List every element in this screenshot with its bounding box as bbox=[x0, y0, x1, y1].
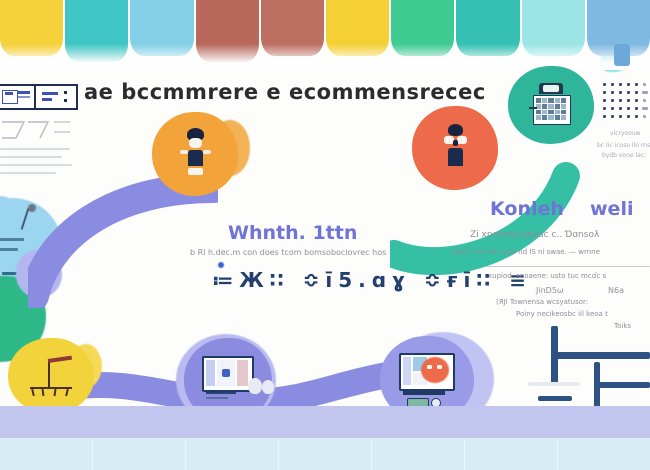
main-headline: ae bccmmrere e ecommensrecec bbox=[84, 80, 486, 104]
footer-cell[interactable] bbox=[372, 438, 465, 470]
matrix-caption-line-1: vicryoouw bbox=[610, 130, 641, 137]
footer-cell[interactable] bbox=[465, 438, 558, 470]
sketch-chevrons bbox=[0, 118, 72, 142]
center-body: b Rl h.dec.m con does tcom bomsobociovre… bbox=[190, 248, 386, 257]
person-icon bbox=[177, 128, 213, 180]
mouse-icon-2 bbox=[262, 380, 274, 394]
doc-rule-1 bbox=[0, 148, 70, 150]
doc-rule-2 bbox=[0, 156, 62, 158]
dot-matrix-grid bbox=[602, 82, 650, 119]
right-line-3: xupiod. snoaene: usto tuc mcɗc s bbox=[488, 272, 606, 280]
right-line-4: JinD5ω bbox=[536, 286, 564, 295]
right-subhead-b: weli bbox=[590, 198, 633, 220]
node-printer-teal[interactable] bbox=[508, 66, 594, 144]
right-subhead-a: Konleh bbox=[490, 198, 564, 220]
right-line-6: (ЯJl Townensa wcsyatusor: bbox=[496, 298, 588, 306]
beam-horizontal-mid bbox=[594, 382, 650, 388]
right-line-7: Poiny necikeosbc iil keoa t bbox=[516, 310, 608, 318]
beam-plate-2 bbox=[538, 396, 572, 401]
footer-band-purple bbox=[0, 406, 650, 438]
mouse-icon bbox=[248, 378, 262, 394]
monitor-coral-badge bbox=[421, 357, 449, 383]
footer-strip bbox=[0, 438, 650, 470]
footer-cell[interactable] bbox=[558, 438, 650, 470]
doc-rule-4 bbox=[0, 172, 56, 174]
footer-cell[interactable] bbox=[93, 438, 186, 470]
footer-cell[interactable] bbox=[186, 438, 279, 470]
left-blob-line-2 bbox=[0, 248, 18, 251]
monitor-icon bbox=[397, 351, 457, 407]
blue-tab-accent bbox=[614, 44, 630, 66]
beam-plate-1 bbox=[528, 382, 580, 386]
ribbon-upper-purple bbox=[28, 178, 218, 308]
right-line-1: Ζi xpoowocoboac c.. Ɗɑnsoλ bbox=[470, 230, 599, 240]
matrix-caption-line-3: bydb vone lac: bbox=[602, 152, 646, 159]
footer-cell[interactable] bbox=[279, 438, 372, 470]
right-line-8: Toiks bbox=[614, 322, 631, 330]
doc-rule-3 bbox=[0, 164, 72, 166]
left-blob-line-1 bbox=[0, 238, 24, 241]
beam-horizontal-top bbox=[551, 352, 650, 359]
node-person-orange[interactable] bbox=[152, 112, 238, 196]
center-glyph-row: ≔Ж∷ ≎ī5.ɑɣ ≎ғī∷ ≡ bbox=[212, 268, 532, 292]
document-panel bbox=[0, 84, 78, 110]
monitor-icon bbox=[200, 354, 256, 406]
center-subhead: Whnth. 1ttn bbox=[228, 222, 357, 244]
right-line-5: N6a bbox=[608, 286, 624, 295]
right-line-2: Wactl cox hor now nd lS ni swae. — wrnne bbox=[452, 248, 600, 256]
infographic-canvas: ae bccmmrere e ecommensrecec bbox=[0, 0, 650, 470]
footer-cell[interactable] bbox=[0, 438, 93, 470]
person-icon bbox=[437, 124, 473, 172]
matrix-caption-line-2: bc lic icoso llo rnsc bbox=[597, 142, 650, 149]
printer-icon bbox=[529, 83, 573, 127]
node-person-coral[interactable] bbox=[412, 106, 498, 190]
crane-icon bbox=[26, 355, 76, 397]
node-crane-yellow[interactable] bbox=[8, 338, 94, 414]
